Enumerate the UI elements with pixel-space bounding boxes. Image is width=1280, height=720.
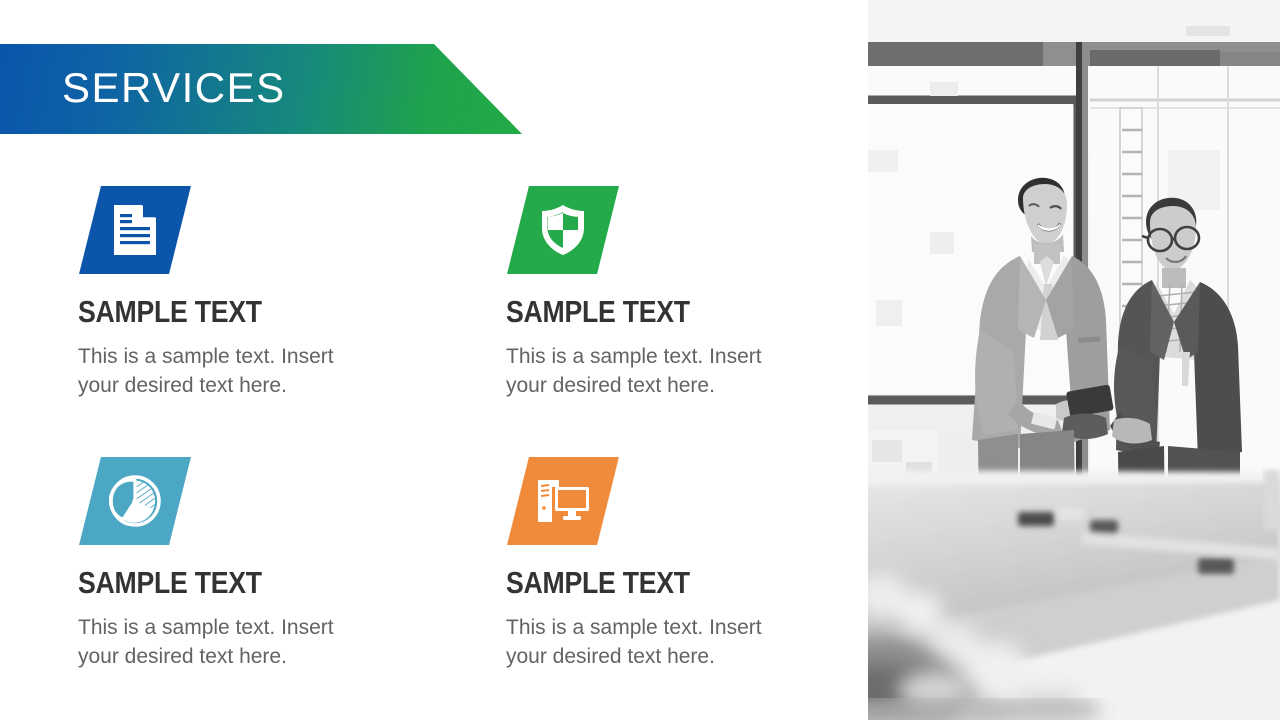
service-item-3[interactable]: SAMPLE TEXT This is a sample text. Inser… — [78, 457, 458, 671]
services-row-2: SAMPLE TEXT This is a sample text. Inser… — [78, 457, 838, 671]
service-description: This is a sample text. Insert your desir… — [78, 613, 378, 671]
services-grid: SAMPLE TEXT This is a sample text. Inser… — [78, 186, 838, 671]
slide-canvas: SERVICES — [0, 0, 1280, 720]
shield-icon — [539, 204, 587, 256]
desktop-computer-icon — [535, 477, 591, 525]
businessmen-with-phone-photo — [868, 0, 1280, 720]
icon-tile-document[interactable] — [79, 186, 191, 274]
page-title: SERVICES — [62, 58, 286, 118]
service-title: SAMPLE TEXT — [78, 565, 405, 601]
services-row-1: SAMPLE TEXT This is a sample text. Inser… — [78, 186, 838, 400]
service-description: This is a sample text. Insert your desir… — [506, 342, 806, 400]
document-icon — [114, 205, 156, 255]
service-title: SAMPLE TEXT — [506, 294, 792, 330]
icon-tile-pie-chart[interactable] — [79, 457, 191, 545]
icon-tile-desktop[interactable] — [507, 457, 619, 545]
service-item-1[interactable]: SAMPLE TEXT This is a sample text. Inser… — [78, 186, 458, 400]
service-description: This is a sample text. Insert your desir… — [78, 342, 378, 400]
service-title: SAMPLE TEXT — [506, 565, 792, 601]
service-description: This is a sample text. Insert your desir… — [506, 613, 806, 671]
pie-chart-icon — [109, 475, 161, 527]
service-item-4[interactable]: SAMPLE TEXT This is a sample text. Inser… — [458, 457, 838, 671]
service-item-2[interactable]: SAMPLE TEXT This is a sample text. Inser… — [458, 186, 838, 400]
icon-tile-shield[interactable] — [507, 186, 619, 274]
service-title: SAMPLE TEXT — [78, 294, 405, 330]
